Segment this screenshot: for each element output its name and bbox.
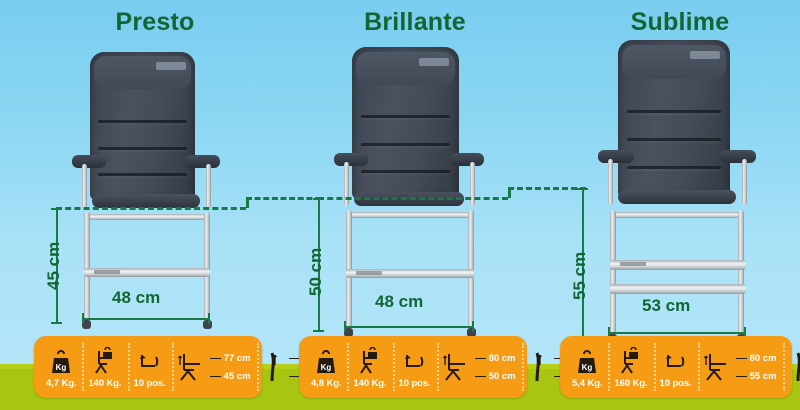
- comparison-dash-step-1: [246, 197, 321, 200]
- seat-front-rail: [610, 212, 744, 218]
- width-line-sublime: [608, 332, 746, 334]
- backrest-seam: [98, 147, 186, 150]
- leader-line: [289, 376, 300, 377]
- frame-brand-mark: [356, 271, 382, 275]
- seat-height-row: 45 cm: [210, 371, 251, 382]
- armrest-left: [72, 155, 106, 168]
- svg-text:Kg: Kg: [56, 363, 67, 372]
- weight-block-icon: Kg: [314, 345, 338, 375]
- back-height-row: 80 cm: [475, 353, 516, 364]
- height-values: 77 cm 45 cm: [210, 353, 251, 382]
- backrest: [618, 40, 730, 198]
- spec-heights: 80 cm 55 cm: [698, 336, 783, 398]
- spec-max-load-value: 140 Kg.: [353, 378, 386, 389]
- back-height-row: 77 cm: [210, 353, 251, 364]
- seat-height-label-brillante: 50 cm: [306, 248, 326, 296]
- backrest-seam: [361, 115, 451, 118]
- spec-weight-value: 5,4 Kg.: [572, 378, 602, 389]
- front-leg-left: [84, 212, 90, 322]
- back-height-value: 80 cm: [750, 353, 777, 364]
- brand-logo: [156, 62, 186, 70]
- height-tick-bottom-presto: [51, 322, 62, 324]
- armrest-support-right: [742, 159, 747, 205]
- armrest-support-left: [82, 164, 87, 208]
- armrest-right: [450, 153, 484, 166]
- weight-block-icon: Kg: [49, 345, 73, 375]
- frame-brand-mark: [94, 270, 120, 274]
- spec-max-load: 140 Kg.: [82, 336, 127, 398]
- backrest-seam: [98, 120, 186, 123]
- spec-positions-value: 10 pos.: [660, 378, 692, 389]
- width-label-presto: 48 cm: [112, 288, 160, 308]
- spec-heights: 80 cm 50 cm: [437, 336, 522, 398]
- back-height-value: 80 cm: [489, 353, 516, 364]
- seat-height-label-presto: 45 cm: [44, 242, 64, 290]
- leader-line: [736, 358, 747, 359]
- height-values: 80 cm 50 cm: [475, 353, 516, 382]
- height-tick-bottom-brillante: [313, 330, 324, 332]
- spec-max-load-value: 140 Kg.: [88, 378, 121, 389]
- brand-logo: [690, 51, 720, 59]
- back-height-row: 80 cm: [736, 353, 777, 364]
- comparison-dash-step-2: [508, 187, 586, 190]
- spec-panel-brillante: Kg 4,8 Kg. 140 Kg. 10 pos. 80 cm: [299, 336, 527, 398]
- width-line-brillante: [344, 326, 474, 328]
- backrest-seam: [361, 143, 451, 146]
- width-tick-left-brillante: [344, 321, 346, 332]
- lower-cross-rail: [610, 284, 746, 294]
- product-title-brillante: Brillante: [320, 8, 510, 37]
- spec-panel-sublime: Kg 5,4 Kg. 160 Kg. 10 pos. 80 cm: [560, 336, 792, 398]
- spec-max-load: 160 Kg.: [608, 336, 653, 398]
- width-tick-left-presto: [82, 313, 84, 324]
- recline-angle-icon: [664, 345, 688, 375]
- seat-height-row: 50 cm: [475, 371, 516, 382]
- spec-positions-value: 10 pos.: [134, 378, 166, 389]
- spec-weight: Kg 4,8 Kg.: [305, 336, 347, 398]
- headrest-pad: [94, 56, 191, 89]
- spec-weight: Kg 5,4 Kg.: [566, 336, 608, 398]
- backrest-seam: [98, 173, 186, 176]
- seat-height-value: 55 cm: [750, 371, 777, 382]
- seat-pad: [618, 190, 736, 204]
- armrest-right: [720, 150, 756, 163]
- spec-heights: 77 cm 45 cm: [172, 336, 257, 398]
- back-height-value: 77 cm: [224, 353, 251, 364]
- front-leg-right: [738, 210, 744, 336]
- width-line-presto: [82, 318, 210, 320]
- chair-side-profile-icon: [443, 352, 471, 382]
- svg-text:Kg: Kg: [321, 363, 332, 372]
- headrest-pad: [356, 52, 454, 85]
- armrest-support-left: [608, 159, 613, 205]
- chair-max-load-icon: [92, 345, 118, 375]
- leader-line: [736, 376, 747, 377]
- product-title-presto: Presto: [60, 8, 250, 37]
- chair-side-profile-icon: [704, 352, 732, 382]
- chair-figure-brillante: [322, 47, 512, 332]
- comparison-dash-presto-level: [56, 207, 246, 210]
- leader-line: [210, 376, 221, 377]
- headrest-pad: [622, 45, 725, 80]
- width-label-brillante: 48 cm: [375, 292, 423, 312]
- spec-weight-value: 4,7 Kg.: [46, 378, 76, 389]
- infographic-canvas: Presto Brillante Sublime 45 cm 48 cm: [0, 0, 800, 410]
- chair-figure-sublime: [586, 40, 786, 335]
- spec-positions: 10 pos.: [654, 336, 698, 398]
- svg-text:Kg: Kg: [582, 363, 593, 372]
- chair-figure-presto: [60, 52, 250, 327]
- chair-side-profile-icon: [178, 352, 206, 382]
- spec-weight-value: 4,8 Kg.: [311, 378, 341, 389]
- front-leg-right: [204, 212, 210, 322]
- comparison-dash-riser-1: [246, 197, 249, 208]
- spec-folded: 115 cm 9,5 cm: [783, 336, 800, 398]
- chair-folded-profile-icon: [528, 352, 550, 382]
- recline-angle-icon: [138, 345, 162, 375]
- backrest: [90, 52, 195, 200]
- seat-height-row: 55 cm: [736, 371, 777, 382]
- width-label-sublime: 53 cm: [642, 296, 690, 316]
- width-tick-right-presto: [208, 313, 210, 324]
- width-tick-right-brillante: [472, 321, 474, 332]
- spec-positions: 10 pos.: [128, 336, 172, 398]
- seat-pad: [92, 194, 200, 208]
- spec-max-load: 140 Kg.: [347, 336, 392, 398]
- leader-line: [475, 376, 486, 377]
- chair-max-load-icon: [618, 345, 644, 375]
- backrest-seam: [627, 110, 721, 113]
- leader-line: [475, 358, 486, 359]
- leader-line: [210, 358, 221, 359]
- frame-brand-mark: [620, 262, 646, 266]
- comparison-dash-riser-2: [508, 187, 511, 198]
- armrest-right: [186, 155, 220, 168]
- backrest-seam: [627, 138, 721, 141]
- spec-positions: 10 pos.: [393, 336, 437, 398]
- seat-height-value: 50 cm: [489, 371, 516, 382]
- brand-logo: [419, 58, 449, 66]
- front-leg-left: [610, 210, 616, 336]
- recline-angle-icon: [403, 345, 427, 375]
- spec-positions-value: 10 pos.: [399, 378, 431, 389]
- armrest-left: [334, 153, 368, 166]
- seat-height-label-sublime: 55 cm: [570, 252, 590, 300]
- height-values: 80 cm 55 cm: [736, 353, 777, 382]
- seat-height-value: 45 cm: [224, 371, 251, 382]
- chair-folded-profile-icon: [263, 352, 285, 382]
- chair-folded-profile-icon: [789, 352, 800, 382]
- armrest-support-right: [206, 164, 211, 208]
- backrest-seam: [627, 166, 721, 169]
- seat-front-rail: [84, 214, 208, 220]
- armrest-left: [598, 150, 634, 163]
- product-title-sublime: Sublime: [580, 8, 780, 37]
- backrest-seam: [361, 170, 451, 173]
- leader-line: [289, 358, 300, 359]
- backrest: [352, 47, 459, 199]
- weight-block-icon: Kg: [575, 345, 599, 375]
- spec-panel-presto: Kg 4,7 Kg. 140 Kg. 10 pos. 77 cm: [34, 336, 262, 398]
- spec-weight: Kg 4,7 Kg.: [40, 336, 82, 398]
- comparison-dash-brillante-level: [318, 197, 508, 200]
- spec-max-load-value: 160 Kg.: [614, 378, 647, 389]
- chair-max-load-icon: [357, 345, 383, 375]
- seat-front-rail: [346, 212, 472, 218]
